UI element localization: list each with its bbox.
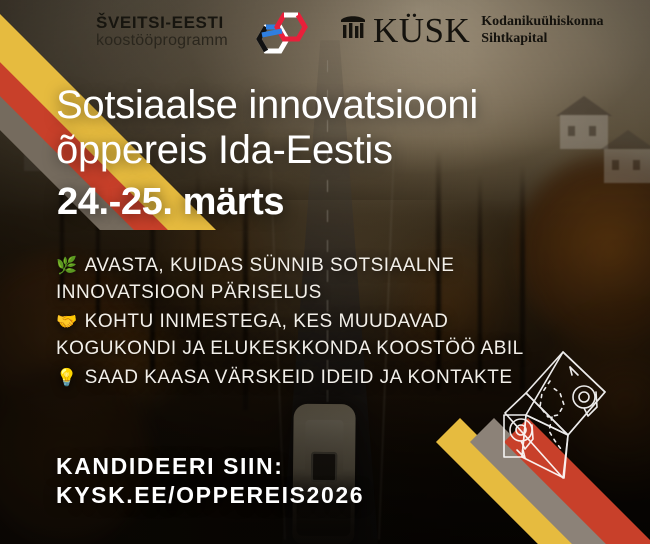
title-line-2: õppereis Ida-Eestis	[56, 128, 393, 172]
title-line-1: Sotsiaalse innovatsiooni	[56, 83, 478, 127]
page-title: Sotsiaalse innovatsiooni õppereis Ida-Ee…	[56, 83, 616, 173]
list-item: 💡Saad kaasa värskeid ideid ja kontakte	[56, 365, 526, 392]
list-item: 🤝Kohtu inimestega, kes muudavad kogukond…	[56, 309, 526, 363]
list-item: 🌿Avasta, kuidas sünnib sotsiaalne innova…	[56, 253, 526, 307]
list-item-text: Saad kaasa värskeid ideid ja kontakte	[85, 367, 513, 388]
list-item-text: Kohtu inimestega, kes muudavad kogukondi…	[56, 311, 524, 359]
benefits-list: 🌿Avasta, kuidas sünnib sotsiaalne innova…	[56, 253, 526, 394]
poster-canvas: ŠVEITSI-EESTI koostööprogramm	[0, 0, 650, 544]
lightbulb-icon: 💡	[56, 368, 78, 387]
call-to-action[interactable]: Kandideeri siin: kysk.ee/oppereis2026	[56, 452, 364, 511]
cta-label: Kandideeri siin:	[56, 453, 284, 479]
poster-content: Sotsiaalse innovatsiooni õppereis Ida-Ee…	[0, 0, 650, 544]
list-item-text: Avasta, kuidas sünnib sotsiaalne innovat…	[56, 255, 454, 303]
cta-url[interactable]: kysk.ee/oppereis2026	[56, 482, 364, 508]
handshake-icon: 🤝	[56, 312, 78, 331]
herb-icon: 🌿	[56, 256, 78, 275]
event-date: 24.-25. märts	[57, 181, 284, 224]
